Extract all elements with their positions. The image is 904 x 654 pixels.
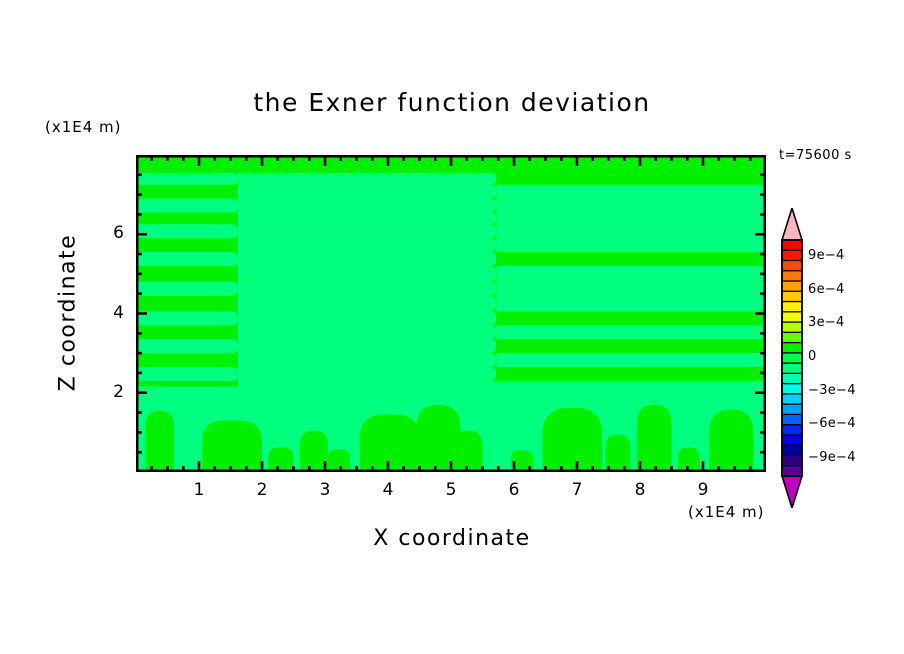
contour-plot-area [136,155,766,472]
figure-canvas: the Exner function deviation (x1E4 m) (x… [0,0,904,654]
colorbar [778,208,806,508]
x-tick-label: 6 [494,480,534,500]
y-tick-label: 6 [84,223,124,243]
x-tick-label: 1 [179,480,219,500]
colorbar-tick-label: −3e−4 [808,383,856,398]
x-tick-label: 9 [683,480,723,500]
x-axis-unit-label: (x1E4 m) [688,503,765,521]
y-tick-label: 4 [84,303,124,323]
colorbar-tick-label: 6e−4 [808,282,845,297]
y-axis-title: Z coordinate [56,223,81,403]
colorbar-tick-label: 9e−4 [808,248,845,263]
x-tick-label: 3 [305,480,345,500]
colorbar-tick-label: −9e−4 [808,450,856,465]
y-tick-label: 2 [84,382,124,402]
chart-title: the Exner function deviation [0,88,904,117]
x-tick-label: 8 [620,480,660,500]
x-tick-label: 2 [242,480,282,500]
colorbar-tick-label: −6e−4 [808,416,856,431]
x-tick-label: 5 [431,480,471,500]
time-annotation: t=75600 s [779,148,852,163]
colorbar-tick-label: 0 [808,349,817,364]
x-tick-label: 4 [368,480,408,500]
colorbar-tick-label: 3e−4 [808,315,845,330]
y-axis-unit-label: (x1E4 m) [45,118,122,136]
x-axis-title: X coordinate [0,526,904,551]
x-tick-label: 7 [557,480,597,500]
contour-field [136,155,766,472]
